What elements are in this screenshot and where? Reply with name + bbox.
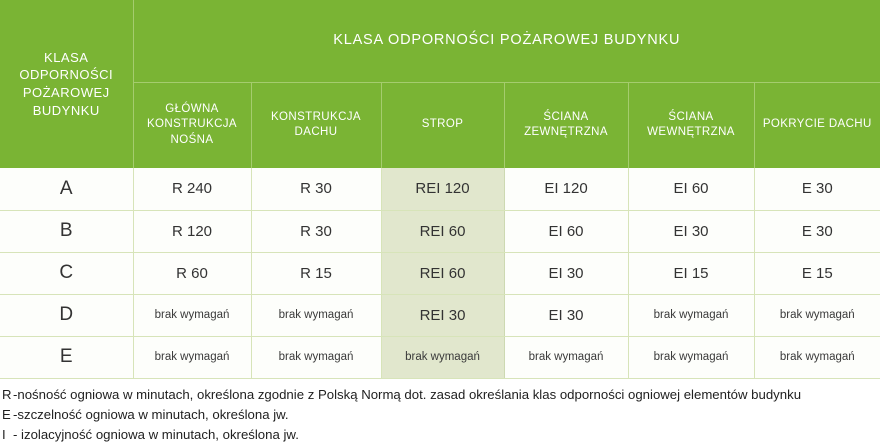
cell-value: brak wymagań [754, 294, 880, 336]
cell-value: EI 60 [504, 210, 628, 252]
cell-value: EI 30 [504, 294, 628, 336]
legend-line-i: I- izolacyjność ogniowa w minutach, okre… [2, 425, 880, 443]
cell-value: EI 15 [628, 252, 754, 294]
table-row: A R 240 R 30 REI 120 EI 120 EI 60 E 30 [0, 168, 880, 210]
cell-value-strop: REI 30 [381, 294, 504, 336]
legend-key-i: I [2, 425, 13, 443]
column-header-pokrycie-dachu: POKRYCIE DACHU [754, 82, 880, 168]
cell-value: brak wymagań [133, 336, 251, 378]
legend-notes: R-nośność ogniowa w minutach, określona … [0, 379, 880, 443]
table-row: C R 60 R 15 REI 60 EI 30 EI 15 E 15 [0, 252, 880, 294]
row-class-label: A [0, 168, 133, 210]
cell-value: E 30 [754, 210, 880, 252]
table-head: KLASA ODPORNOŚCI POŻAROWEJ BUDYNKU KLASA… [0, 0, 880, 168]
cell-value: E 15 [754, 252, 880, 294]
fire-resistance-class-table-page: KLASA ODPORNOŚCI POŻAROWEJ BUDYNKU KLASA… [0, 0, 880, 443]
cell-value: brak wymagań [251, 294, 381, 336]
row-class-label: D [0, 294, 133, 336]
cell-value: R 15 [251, 252, 381, 294]
column-header-strop: STROP [381, 82, 504, 168]
cell-value: brak wymagań [133, 294, 251, 336]
cell-value: EI 60 [628, 168, 754, 210]
cell-value: brak wymagań [251, 336, 381, 378]
cell-value-strop: REI 60 [381, 210, 504, 252]
cell-value: brak wymagań [628, 336, 754, 378]
table-row: B R 120 R 30 REI 60 EI 60 EI 30 E 30 [0, 210, 880, 252]
column-header-konstrukcja-dachu: KONSTRUKCJA DACHU [251, 82, 381, 168]
legend-key-e: E [2, 405, 13, 425]
cell-value: R 60 [133, 252, 251, 294]
cell-value-strop: brak wymagań [381, 336, 504, 378]
column-header-sciana-zewnetrzna: ŚCIANA ZEWNĘTRZNA [504, 82, 628, 168]
row-class-label: C [0, 252, 133, 294]
cell-value: brak wymagań [504, 336, 628, 378]
cell-value-strop: REI 60 [381, 252, 504, 294]
table-row: E brak wymagań brak wymagań brak wymagań… [0, 336, 880, 378]
cell-value: R 240 [133, 168, 251, 210]
table-row: D brak wymagań brak wymagań REI 30 EI 30… [0, 294, 880, 336]
column-header-sciana-wewnetrzna: ŚCIANA WEWNĘTRZNA [628, 82, 754, 168]
row-header-title: KLASA ODPORNOŚCI POŻAROWEJ BUDYNKU [0, 0, 133, 168]
cell-value: E 30 [754, 168, 880, 210]
legend-text-e: -szczelność ogniowa w minutach, określon… [13, 407, 289, 422]
row-class-label: E [0, 336, 133, 378]
cell-value: R 30 [251, 210, 381, 252]
cell-value: brak wymagań [628, 294, 754, 336]
cell-value: EI 120 [504, 168, 628, 210]
group-header-title: KLASA ODPORNOŚCI POŻAROWEJ BUDYNKU [133, 0, 880, 82]
row-class-label: B [0, 210, 133, 252]
fire-resistance-table: KLASA ODPORNOŚCI POŻAROWEJ BUDYNKU KLASA… [0, 0, 880, 379]
table-body: A R 240 R 30 REI 120 EI 120 EI 60 E 30 B… [0, 168, 880, 378]
cell-value: R 120 [133, 210, 251, 252]
column-header-glowna-konstrukcja-nosna: GŁÓWNA KONSTRUKCJA NOŚNA [133, 82, 251, 168]
cell-value: brak wymagań [754, 336, 880, 378]
legend-key-r: R [2, 385, 13, 405]
legend-line-e: E-szczelność ogniowa w minutach, określo… [2, 405, 880, 425]
cell-value: EI 30 [628, 210, 754, 252]
cell-value: EI 30 [504, 252, 628, 294]
header-row-top: KLASA ODPORNOŚCI POŻAROWEJ BUDYNKU KLASA… [0, 0, 880, 82]
cell-value: R 30 [251, 168, 381, 210]
legend-line-r: R-nośność ogniowa w minutach, określona … [2, 385, 880, 405]
legend-text-i: - izolacyjność ogniowa w minutach, okreś… [13, 427, 299, 442]
legend-text-r: -nośność ogniowa w minutach, określona z… [13, 387, 801, 402]
cell-value-strop: REI 120 [381, 168, 504, 210]
